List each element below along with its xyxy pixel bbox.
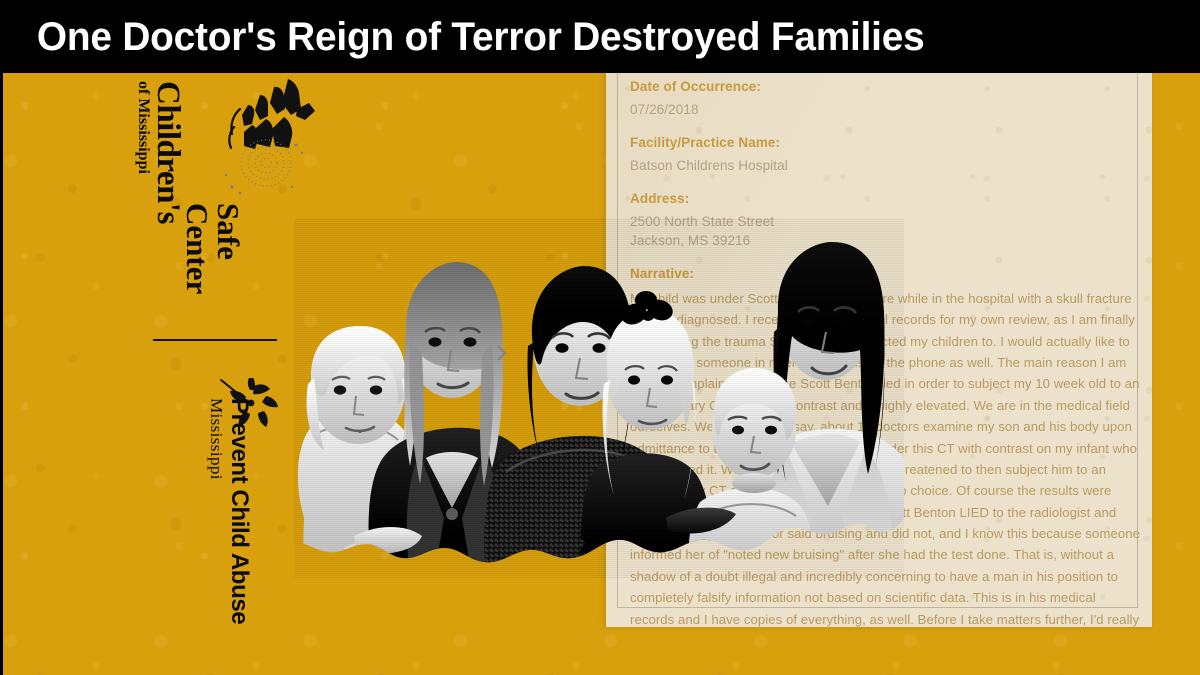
page-title: One Doctor's Reign of Terror Destroyed F… (0, 17, 925, 57)
logo-line-prevent-child-abuse: Prevent Child Abuse (227, 398, 251, 624)
field-label-date-of-occurrence: Date of Occurrence: (630, 79, 1142, 94)
logo-childrens-of-mississippi-safe-center: Children's of Mississippi (118, 73, 308, 323)
field-label-address: Address: (630, 191, 1142, 206)
logo-safe-center-text: Safe Center (182, 203, 244, 294)
logo-line-of-mississippi: of Mississippi (135, 81, 150, 224)
sponsor-logo-column: Children's of Mississippi (118, 73, 318, 633)
logo-line-mississippi: Mississippi (208, 398, 225, 624)
field-value-facility-practice-name: Batson Childrens Hospital (630, 157, 1142, 175)
family-group-photo-collage (294, 218, 904, 578)
logo-divider (153, 339, 277, 341)
logo-childrens-of-mississippi-text: Children's of Mississippi (135, 81, 183, 224)
logo-prevent-child-abuse-text: Prevent Child Abuse Mississippi (208, 398, 251, 624)
headline-bar: One Doctor's Reign of Terror Destroyed F… (0, 0, 1200, 73)
logo-line-center: Center (182, 203, 213, 294)
field-label-facility-practice-name: Facility/Practice Name: (630, 135, 1142, 150)
logo-line-safe: Safe (211, 203, 246, 260)
field-value-date-of-occurrence: 07/26/2018 (630, 101, 1142, 119)
poster-canvas: Date of Occurrence: 07/26/2018 Facility/… (0, 0, 1200, 675)
handprint-starburst-icon (196, 75, 316, 205)
